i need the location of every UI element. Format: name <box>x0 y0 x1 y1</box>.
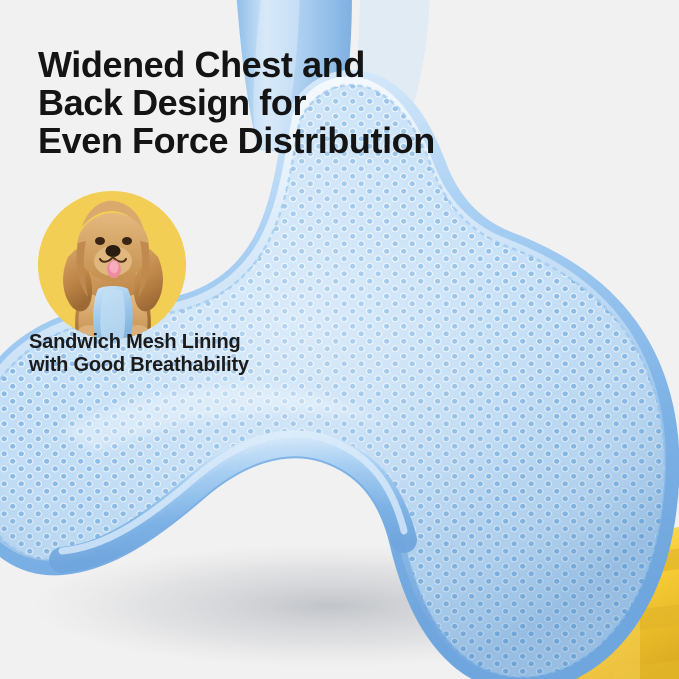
feature-badge <box>38 191 186 339</box>
feature-badge-caption: Sandwich Mesh Lining with Good Breathabi… <box>29 331 329 377</box>
page-title: Widened Chest and Back Design for Even F… <box>38 46 508 160</box>
dog-photo <box>38 191 186 339</box>
product-marketing-image: Widened Chest and Back Design for Even F… <box>0 0 679 679</box>
